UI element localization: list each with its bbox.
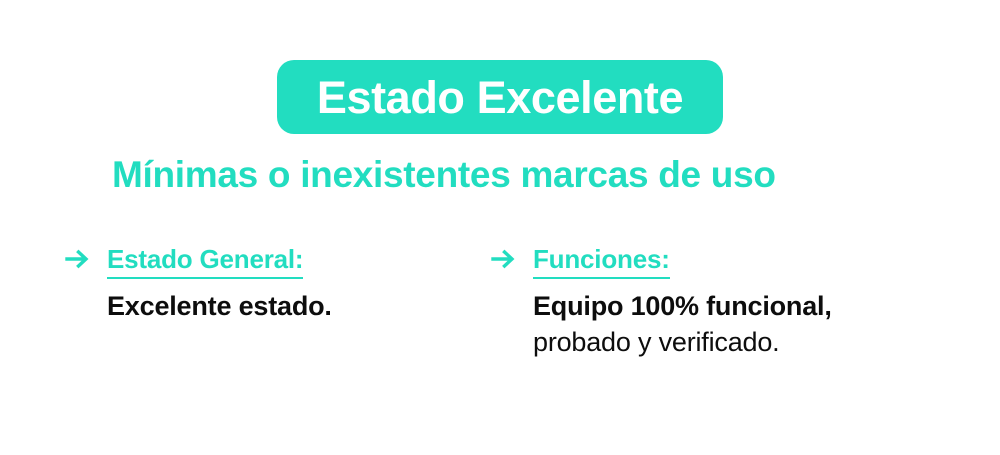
- detail-value: Equipo 100% funcional, probado y verific…: [533, 288, 949, 360]
- detail-value-secondary: probado y verificado.: [533, 324, 949, 360]
- badge-title: Estado Excelente: [317, 75, 683, 120]
- arrow-right-icon: [63, 244, 93, 274]
- detail-label: Estado General:: [107, 244, 303, 279]
- detail-body: Funciones: Equipo 100% funcional, probad…: [533, 244, 949, 360]
- arrow-right-icon: [489, 244, 519, 274]
- subtitle: Mínimas o inexistentes marcas de uso: [112, 152, 776, 198]
- detail-header: Estado General: Excelente estado.: [63, 244, 483, 324]
- detail-header: Funciones: Equipo 100% funcional, probad…: [489, 244, 949, 360]
- detail-label: Funciones:: [533, 244, 670, 279]
- detail-value: Excelente estado.: [107, 288, 483, 324]
- detail-value-primary: Equipo 100% funcional,: [533, 288, 949, 324]
- detail-body: Estado General: Excelente estado.: [107, 244, 483, 324]
- condition-info-card: Estado Excelente Mínimas o inexistentes …: [0, 0, 1000, 455]
- status-badge: Estado Excelente: [277, 60, 723, 134]
- detail-column-estado-general: Estado General: Excelente estado.: [63, 244, 483, 324]
- detail-column-funciones: Funciones: Equipo 100% funcional, probad…: [489, 244, 949, 360]
- detail-value-primary: Excelente estado.: [107, 288, 483, 324]
